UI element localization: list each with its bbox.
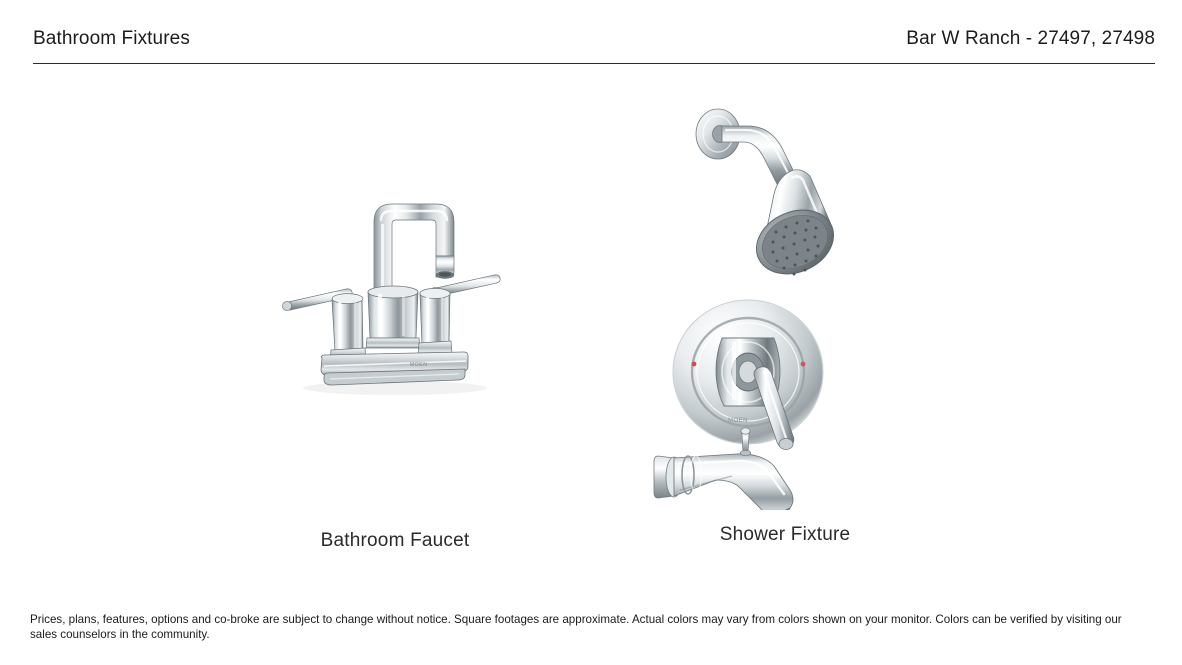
product-shower-fixture: MOEN Shower Fixtu [640, 90, 930, 490]
product-bathroom-faucet: MOEN Bathroom Faucet [250, 180, 540, 410]
hot-indicator-dot [692, 362, 697, 367]
cold-indicator-dot [801, 362, 806, 367]
disclaimer-text: Prices, plans, features, options and co-… [30, 612, 1142, 642]
community-label: Bar W Ranch - 27497, 27498 [906, 28, 1155, 50]
page-header: Bathroom Fixtures Bar W Ranch - 27497, 2… [33, 28, 1155, 64]
valve-brand-mark: MOEN [728, 418, 748, 424]
bathroom-faucet-image: MOEN [250, 180, 540, 410]
page-title: Bathroom Fixtures [33, 28, 190, 50]
faucet-brand-mark: MOEN [410, 362, 427, 368]
bathroom-faucet-caption: Bathroom Faucet [250, 530, 540, 552]
fixtures-stage: MOEN Bathroom Faucet [0, 70, 1182, 600]
header-divider [33, 63, 1155, 64]
shower-fixture-image: MOEN [640, 90, 930, 510]
shower-fixture-caption: Shower Fixture [640, 524, 930, 546]
